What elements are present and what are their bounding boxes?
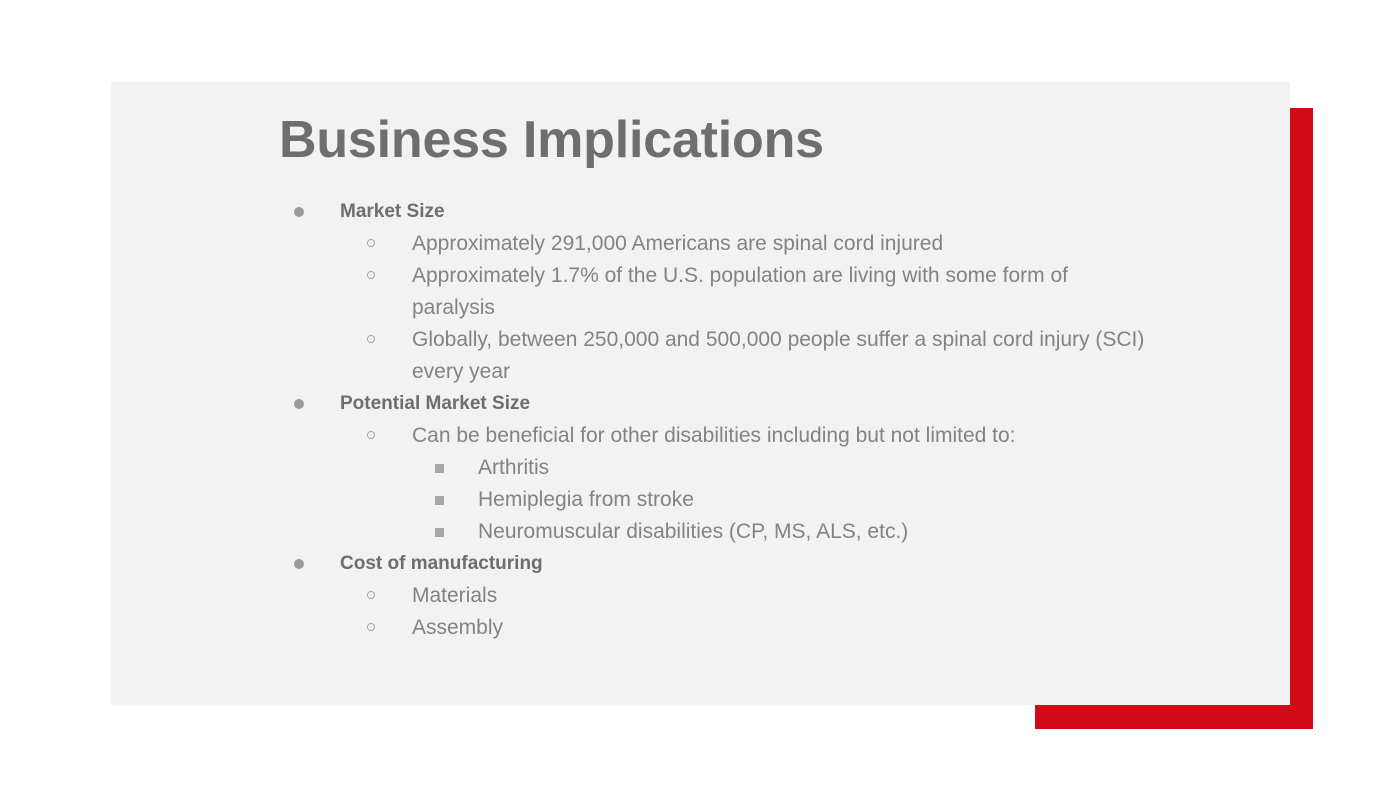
- bullet-text: Assembly: [412, 612, 1153, 644]
- page-title: Business Implications: [279, 110, 824, 170]
- filled-square-bullet-icon: [435, 528, 444, 537]
- bullet-text: Potential Market Size: [340, 388, 1153, 420]
- filled-circle-bullet-icon: [294, 559, 304, 569]
- bullet-text: Approximately 291,000 Americans are spin…: [412, 228, 1153, 260]
- bullet-item: Arthritis: [283, 452, 1153, 484]
- filled-square-bullet-icon: [435, 496, 444, 505]
- filled-circle-bullet-icon: [294, 399, 304, 409]
- filled-square-bullet-icon: [435, 464, 444, 473]
- bullet-item: Cost of manufacturing: [283, 548, 1153, 580]
- bullet-item: Neuromuscular disabilities (CP, MS, ALS,…: [283, 516, 1153, 548]
- bullet-text: Approximately 1.7% of the U.S. populatio…: [412, 260, 1153, 324]
- filled-circle-bullet-icon: [294, 207, 304, 217]
- bullet-list: Market SizeApproximately 291,000 America…: [283, 196, 1153, 644]
- hollow-circle-bullet-icon: [367, 271, 375, 279]
- slide-canvas: Business Implications Market SizeApproxi…: [0, 0, 1400, 788]
- hollow-circle-bullet-icon: [367, 623, 375, 631]
- hollow-circle-bullet-icon: [367, 431, 375, 439]
- bullet-item: Hemiplegia from stroke: [283, 484, 1153, 516]
- bullet-text: Hemiplegia from stroke: [478, 484, 1153, 516]
- bullet-text: Neuromuscular disabilities (CP, MS, ALS,…: [478, 516, 1153, 548]
- hollow-circle-bullet-icon: [367, 239, 375, 247]
- bullet-item: Can be beneficial for other disabilities…: [283, 420, 1153, 452]
- bullet-text: Materials: [412, 580, 1153, 612]
- bullet-text: Market Size: [340, 196, 1153, 228]
- bullet-item: Market Size: [283, 196, 1153, 228]
- bullet-text: Cost of manufacturing: [340, 548, 1153, 580]
- hollow-circle-bullet-icon: [367, 591, 375, 599]
- bullet-text: Globally, between 250,000 and 500,000 pe…: [412, 324, 1153, 388]
- bullet-text: Can be beneficial for other disabilities…: [412, 420, 1153, 452]
- hollow-circle-bullet-icon: [367, 335, 375, 343]
- bullet-item: Approximately 291,000 Americans are spin…: [283, 228, 1153, 260]
- bullet-item: Potential Market Size: [283, 388, 1153, 420]
- accent-bar-vertical: [1289, 108, 1313, 729]
- bullet-item: Approximately 1.7% of the U.S. populatio…: [283, 260, 1153, 324]
- bullet-item: Assembly: [283, 612, 1153, 644]
- bullet-item: Globally, between 250,000 and 500,000 pe…: [283, 324, 1153, 388]
- bullet-item: Materials: [283, 580, 1153, 612]
- accent-bar-horizontal: [1035, 705, 1313, 729]
- bullet-text: Arthritis: [478, 452, 1153, 484]
